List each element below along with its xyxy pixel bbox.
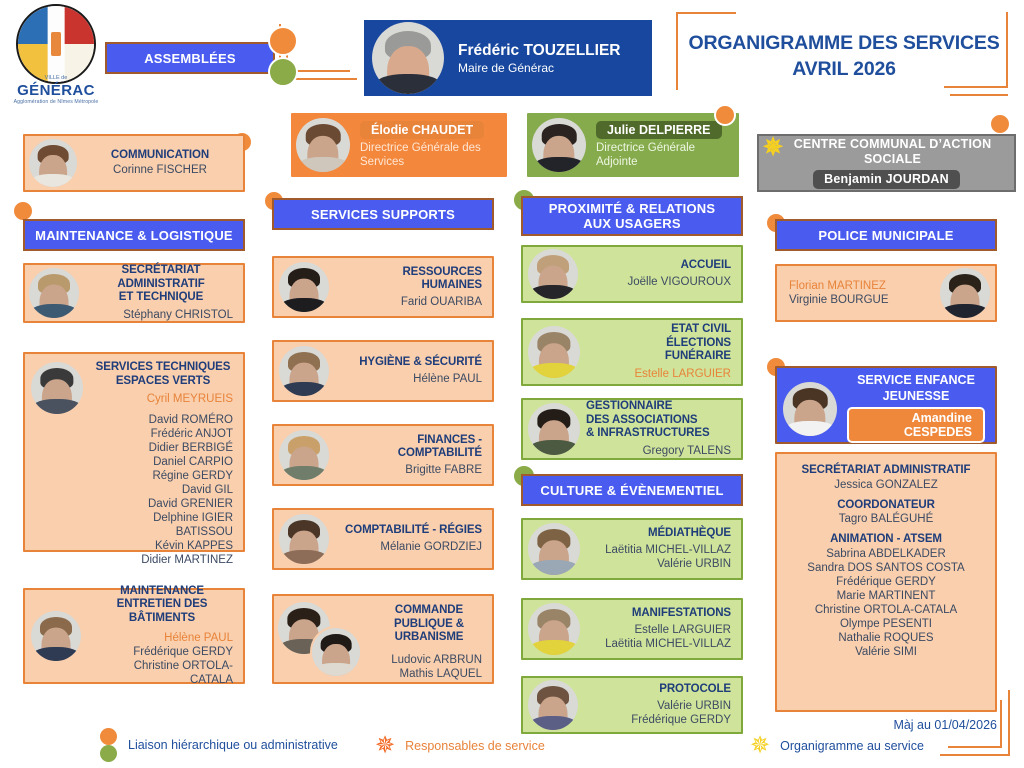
- legend: Liaison hiérarchique ou administrative ✵…: [0, 726, 1024, 768]
- avatar: [296, 118, 350, 172]
- detail-title-1: SECRÉTARIAT ADMINISTRATIF: [787, 464, 985, 478]
- card-enfance-detail[interactable]: SECRÉTARIAT ADMINISTRATIF Jessica GONZAL…: [775, 452, 997, 712]
- card-name: Christine ORTOLA-CATALA: [91, 659, 233, 687]
- card-name: Farid OUARIBA: [339, 295, 482, 309]
- card-title-1: SERVICES TECHNIQUES: [93, 361, 233, 375]
- card-name: Valérie URBIN: [588, 699, 731, 713]
- legend-label-liaison: Liaison hiérarchique ou administrative: [118, 738, 338, 752]
- director-name-chip: Élodie CHAUDET: [360, 121, 484, 139]
- dot-orange-ccas: [989, 113, 1011, 135]
- card-title-3: FUNÉRAIRE: [590, 350, 731, 364]
- card-gestionnaire-associations[interactable]: GESTIONNAIRE DES ASSOCIATIONS & INFRASTR…: [521, 398, 743, 460]
- avatar: [528, 403, 580, 455]
- card-name: Brigitte FABRE: [339, 463, 482, 477]
- title-line-2: AVRIL 2026: [792, 56, 896, 82]
- card-name: Didier BERBIGÉ: [93, 441, 233, 455]
- avatar: [528, 326, 580, 378]
- avatar: [528, 603, 580, 655]
- ccas-person-chip: Benjamin JOURDAN: [813, 170, 960, 189]
- footer-bracket-v2: [1000, 700, 1002, 748]
- detail-title-3: ANIMATION - ATSEM: [787, 533, 985, 547]
- card-title-2: ESPACES VERTS: [93, 375, 233, 389]
- card-name: David GIL: [93, 483, 233, 497]
- card-name: Laëtitia MICHEL-VILLAZ: [590, 543, 731, 557]
- legend-item-organigramme: ✵ Organigramme au service: [750, 736, 924, 756]
- legend-label-organigramme: Organigramme au service: [770, 739, 924, 753]
- legend-item-responsables: ✵ Responsables de service: [375, 736, 545, 756]
- card-title-1: ACCUEIL: [588, 259, 731, 273]
- assemblees-label: ASSEMBLÉES: [144, 51, 236, 66]
- avatar: [29, 268, 79, 318]
- banner-label-2: AUX USAGERS: [583, 216, 681, 231]
- title-line-1: ORGANIGRAMME DES SERVICES: [688, 30, 999, 56]
- detail-name: Frédérique GERDY: [787, 575, 985, 589]
- card-title-1: PROTOCOLE: [588, 683, 731, 697]
- banner-label: SERVICE ENFANCE JEUNESSE: [847, 372, 985, 404]
- banner-proximite[interactable]: PROXIMITÉ & RELATIONS AUX USAGERS: [521, 196, 743, 236]
- card-services-techniques[interactable]: SERVICES TECHNIQUES ESPACES VERTS Cyril …: [23, 352, 245, 552]
- card-name: Virginie BOURGUE: [789, 293, 930, 307]
- avatar: [528, 249, 578, 299]
- title-bracket-br: [944, 86, 1008, 88]
- director-role-line1: Directrice Générale: [596, 141, 727, 155]
- detail-name: Nathalie ROQUES: [787, 631, 985, 645]
- card-name: Joëlle VIGOUROUX: [588, 275, 731, 289]
- card-title-1: HYGIÈNE & SÉCURITÉ: [339, 356, 482, 370]
- banner-label: POLICE MUNICIPALE: [818, 228, 953, 243]
- card-title-1: MAINTENANCE: [91, 585, 233, 599]
- card-title-1: MANIFESTATIONS: [590, 607, 731, 621]
- page-title: ORGANIGRAMME DES SERVICES AVRIL 2026: [672, 16, 1016, 96]
- card-title-1: MÉDIATHÈQUE: [590, 527, 731, 541]
- banner-label: CULTURE & ÉVÈNEMENTIEL: [540, 483, 723, 498]
- detail-name: Sandra DOS SANTOS COSTA: [787, 561, 985, 575]
- organigramme-page: VILLE de GÉNÉRAC Agglomération de Nîmes …: [0, 0, 1024, 768]
- title-bracket-tr-v: [1006, 12, 1008, 86]
- card-name: Valérie URBIN: [590, 557, 731, 571]
- avatar: [279, 346, 329, 396]
- two-dots-icon: [100, 728, 118, 762]
- card-title-1: COMPTABILITÉ - RÉGIES: [339, 524, 482, 538]
- avatar: [310, 626, 362, 678]
- card-name: Laëtitia MICHEL-VILLAZ: [590, 637, 731, 651]
- card-title-3: & INFRASTRUCTURES: [586, 427, 731, 441]
- detail-name: Sabrina ABDELKADER: [787, 547, 985, 561]
- director-name-chip: Julie DELPIERRE: [596, 121, 722, 139]
- avatar: [279, 430, 329, 480]
- avatar: [31, 362, 83, 414]
- avatar: [528, 523, 580, 575]
- card-title-2: ÉLECTIONS: [590, 337, 731, 351]
- card-name: Kévin KAPPES: [93, 539, 233, 553]
- detail-name: Tagro BALÉGUHÉ: [787, 512, 985, 526]
- card-name: Ludovic ARBRUN: [376, 653, 482, 667]
- card-name: Mélanie GORDZIEJ: [339, 540, 482, 554]
- card-ressources-humaines[interactable]: RESSOURCES HUMAINES Farid OUARIBA: [272, 256, 494, 318]
- card-name: Daniel CARPIO: [93, 455, 233, 469]
- director-role-line1: Directrice Générale des: [360, 141, 495, 155]
- enfance-chief-chip: Amandine CESPEDES: [847, 407, 985, 443]
- ccas-title-line2: SOCIALE: [864, 152, 921, 166]
- card-name: David ROMÉRO: [93, 413, 233, 427]
- legend-label-responsables: Responsables de service: [395, 739, 545, 753]
- card-etat-civil[interactable]: ETAT CIVIL ÉLECTIONS FUNÉRAIRE Estelle L…: [521, 318, 743, 386]
- logo-town-name: GÉNÉRAC: [8, 82, 104, 99]
- avatar: [372, 22, 444, 94]
- dot-green-assemblees: [268, 57, 298, 87]
- asterisk-yellow-icon: ✵: [763, 138, 783, 158]
- director-role-line2: Adjointe: [596, 155, 727, 169]
- card-service-enfance-jeunesse[interactable]: SERVICE ENFANCE JEUNESSE Amandine CESPED…: [775, 366, 997, 444]
- card-name: Frédérique GERDY: [91, 645, 233, 659]
- card-chief: Cyril MEYRUEIS: [93, 392, 233, 406]
- avatar: [29, 139, 77, 187]
- card-title-1: COMMANDE PUBLIQUE &: [376, 604, 482, 631]
- card-name: Stéphany CHRISTOL: [89, 308, 233, 322]
- avatar: [532, 118, 586, 172]
- avatar: [783, 382, 837, 436]
- card-police[interactable]: Florian MARTINEZ Virginie BOURGUE: [775, 264, 997, 322]
- director-card-dga[interactable]: Julie DELPIERRE Directrice Générale Adjo…: [527, 113, 739, 177]
- footer-bracket-h2: [948, 746, 1002, 748]
- detail-title-2: COORDONATEUR: [787, 499, 985, 513]
- card-chief: Hélène PAUL: [91, 631, 233, 645]
- card-title-1: RESSOURCES HUMAINES: [339, 266, 482, 293]
- card-title-2: URBANISME: [376, 631, 482, 645]
- avatar: [940, 268, 990, 318]
- banner-services-supports[interactable]: SERVICES SUPPORTS: [272, 198, 494, 230]
- card-name: David GRENIER: [93, 497, 233, 511]
- footer-bracket-h: [940, 754, 1010, 756]
- card-title: COMMUNICATION: [87, 149, 233, 163]
- card-title-1: ETAT CIVIL: [590, 323, 731, 337]
- card-chief: Estelle LARGUIER: [590, 367, 731, 381]
- banner-label-1: PROXIMITÉ & RELATIONS: [549, 201, 715, 216]
- card-title-2: DES ASSOCIATIONS: [586, 414, 731, 428]
- detail-name: Jessica GONZALEZ: [787, 478, 985, 492]
- director-role-line2: Services: [360, 155, 495, 169]
- dot-orange-assemblees: [268, 26, 298, 56]
- card-title-1: SECRÉTARIAT ADMINISTRATIF: [89, 264, 233, 291]
- mayor-role: Maire de Générac: [458, 60, 621, 76]
- card-communication[interactable]: COMMUNICATION Corinne FISCHER: [23, 134, 245, 192]
- card-name: Hélène PAUL: [339, 372, 482, 386]
- title-bracket-tl-v: [676, 12, 678, 90]
- title-bracket-tl: [676, 12, 736, 14]
- crest-icon: [16, 4, 96, 84]
- banner-maintenance-logistique[interactable]: MAINTENANCE & LOGISTIQUE: [23, 219, 245, 251]
- legend-item-liaison: Liaison hiérarchique ou administrative: [100, 728, 338, 762]
- card-name: Estelle LARGUIER: [590, 623, 731, 637]
- avatar: [279, 262, 329, 312]
- ccas-title-line1: CENTRE COMMUNAL D’ACTION: [794, 137, 992, 151]
- dot-orange-dir2: [714, 104, 736, 126]
- detail-name: Olympe PESENTI: [787, 617, 985, 631]
- banner-label: SERVICES SUPPORTS: [311, 207, 455, 222]
- card-name: Didier MARTINEZ: [93, 553, 233, 567]
- logo-tagline: Agglomération de Nîmes Métropole: [8, 99, 104, 105]
- title-bracket-br2: [950, 94, 1008, 96]
- card-accueil[interactable]: ACCUEIL Joëlle VIGOUROUX: [521, 245, 743, 303]
- detail-name: Marie MARTINENT: [787, 589, 985, 603]
- card-commande-publique[interactable]: COMMANDE PUBLIQUE & URBANISME Ludovic AR…: [272, 594, 494, 684]
- banner-ccas[interactable]: CENTRE COMMUNAL D’ACTION SOCIALE Benjami…: [757, 134, 1016, 192]
- card-finances-comptabilite[interactable]: FINANCES - COMPTABILITÉ Brigitte FABRE: [272, 424, 494, 486]
- avatar: [279, 514, 329, 564]
- avatar: [528, 680, 578, 730]
- card-title-2: ET TECHNIQUE: [89, 291, 233, 305]
- card-title-1: FINANCES - COMPTABILITÉ: [339, 434, 482, 461]
- card-chief: Florian MARTINEZ: [789, 279, 930, 293]
- card-name: Régine GERDY: [93, 469, 233, 483]
- city-logo: VILLE de GÉNÉRAC Agglomération de Nîmes …: [8, 4, 104, 108]
- card-name: Frédéric ANJOT: [93, 427, 233, 441]
- card-name: Mathis LAQUEL: [376, 667, 482, 681]
- card-secretariat-administratif[interactable]: SECRÉTARIAT ADMINISTRATIF ET TECHNIQUE S…: [23, 263, 245, 323]
- banner-label: MAINTENANCE & LOGISTIQUE: [35, 228, 233, 243]
- detail-name: Christine ORTOLA-CATALA: [787, 603, 985, 617]
- mayor-card[interactable]: Frédéric TOUZELLIER Maire de Générac: [364, 20, 652, 96]
- banner-culture[interactable]: CULTURE & ÉVÈNEMENTIEL: [521, 474, 743, 506]
- detail-name: Valérie SIMI: [787, 645, 985, 659]
- footer-bracket-v: [1008, 690, 1010, 756]
- card-title-1: GESTIONNAIRE: [586, 400, 731, 414]
- card-name: Delphine IGIER BATISSOU: [93, 511, 233, 539]
- asterisk-yellow-icon: ✵: [750, 736, 770, 756]
- card-manifestations[interactable]: MANIFESTATIONS Estelle LARGUIER Laëtitia…: [521, 598, 743, 660]
- asterisk-orange-icon: ✵: [375, 736, 395, 756]
- banner-police-municipale[interactable]: POLICE MUNICIPALE: [775, 219, 997, 251]
- card-title-2: ENTRETIEN DES BÂTIMENTS: [91, 598, 233, 625]
- director-card-dgs[interactable]: Élodie CHAUDET Directrice Générale des S…: [291, 113, 507, 177]
- card-mediatheque[interactable]: MÉDIATHÈQUE Laëtitia MICHEL-VILLAZ Valér…: [521, 518, 743, 580]
- card-hygiene-securite[interactable]: HYGIÈNE & SÉCURITÉ Hélène PAUL: [272, 340, 494, 402]
- card-name: Gregory TALENS: [586, 444, 731, 458]
- mayor-name: Frédéric TOUZELLIER: [458, 41, 621, 60]
- card-name: Corinne FISCHER: [87, 163, 233, 177]
- banner-assemblees[interactable]: ASSEMBLÉES: [105, 42, 275, 74]
- card-comptabilite-regies[interactable]: COMPTABILITÉ - RÉGIES Mélanie GORDZIEJ: [272, 508, 494, 570]
- avatar: [31, 611, 81, 661]
- card-maintenance-batiments[interactable]: MAINTENANCE ENTRETIEN DES BÂTIMENTS Hélè…: [23, 588, 245, 684]
- logo-ville: VILLE de: [8, 75, 104, 81]
